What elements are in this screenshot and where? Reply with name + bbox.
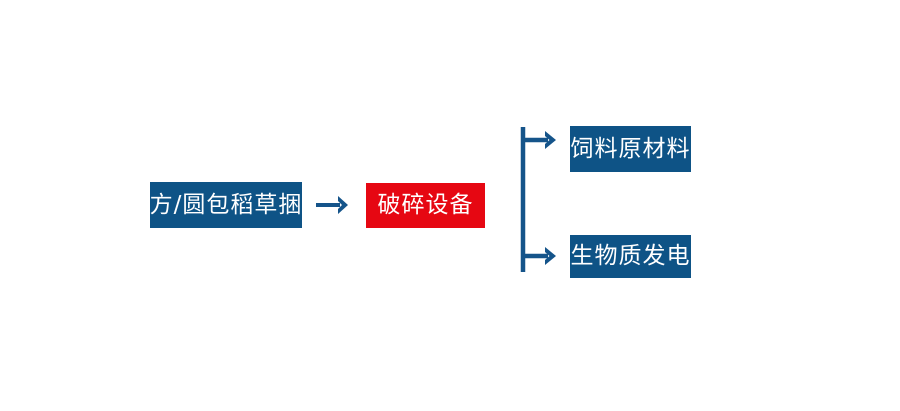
branch-connector-icon [515,120,563,280]
node-feed-material[interactable]: 饲料原材料 [570,126,691,172]
node-crusher-label: 破碎设备 [378,194,474,217]
node-crusher[interactable]: 破碎设备 [366,183,485,228]
connector-branch [515,120,563,280]
connector-main-arrow [314,190,352,220]
node-biomass-power-label: 生物质发电 [571,245,691,268]
node-biomass-power[interactable]: 生物质发电 [570,235,691,278]
diagram-canvas: 方/圆包稻草捆 破碎设备 饲料原材料 生物质发电 [0,0,900,411]
arrow-right-icon [314,190,352,220]
node-feed-material-label: 饲料原材料 [571,138,691,161]
node-straw-bale[interactable]: 方/圆包稻草捆 [150,182,302,228]
node-straw-bale-label: 方/圆包稻草捆 [150,194,303,217]
